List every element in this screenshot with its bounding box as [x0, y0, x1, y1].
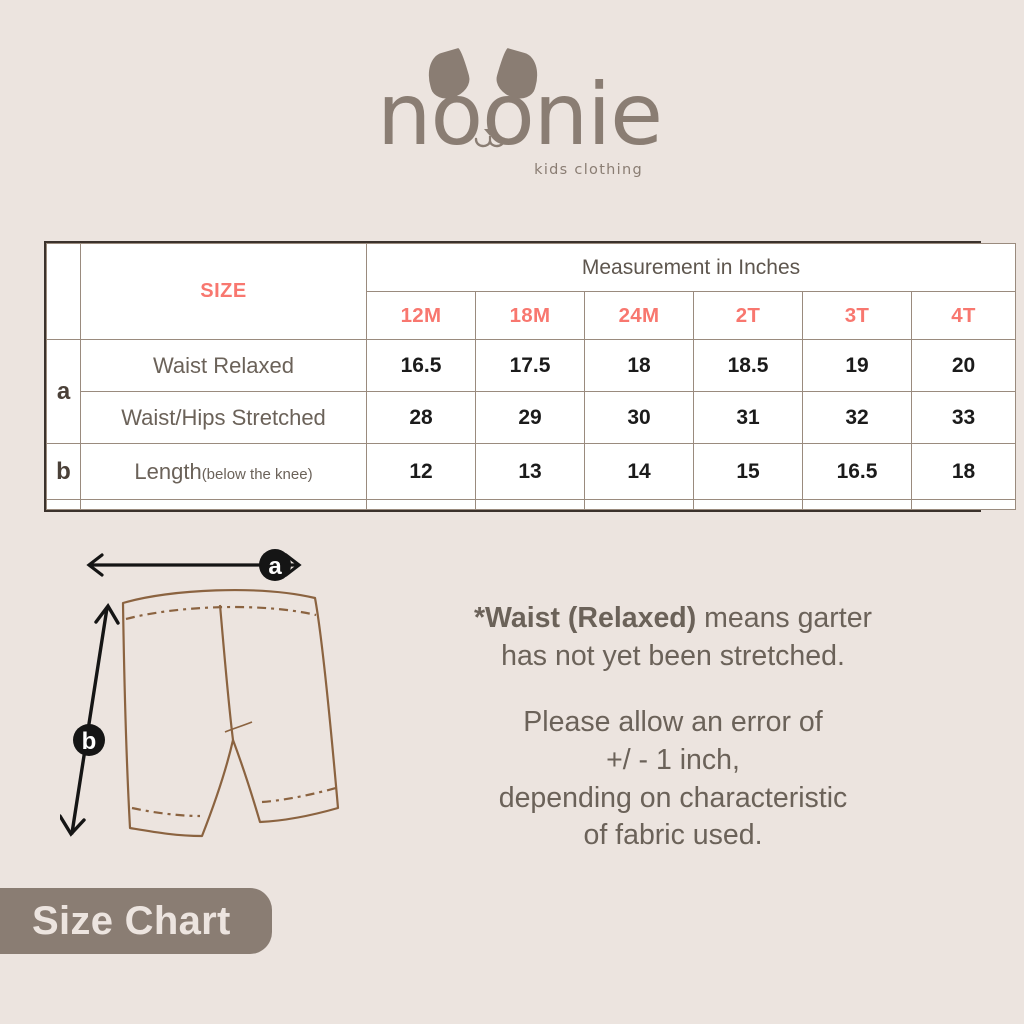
header-col-3t: 3T: [803, 292, 912, 340]
cell-value: 14: [585, 444, 694, 500]
table-row: Waist/Hips Stretched 28 29 30 31 32 33: [47, 392, 1016, 444]
group-letter-a: a: [47, 340, 81, 444]
cell-value: 31: [694, 392, 803, 444]
panda-face-icon: [470, 126, 510, 152]
header-col-12m: 12M: [367, 292, 476, 340]
cell-value: 16.5: [367, 340, 476, 392]
table-bottom-strip: [47, 500, 1016, 510]
cell-value: 32: [803, 392, 912, 444]
cell-value: 19: [803, 340, 912, 392]
cell-value: 12: [367, 444, 476, 500]
note-line-1-rest: means garter: [696, 602, 872, 634]
size-chart-banner-label: Size Chart: [0, 899, 231, 944]
row-label-length: Length(below the knee): [81, 444, 367, 500]
note-spacer: [408, 676, 938, 704]
header-size-label: SIZE: [81, 244, 367, 340]
cell-value: 18.5: [694, 340, 803, 392]
cell-value: 18: [912, 444, 1016, 500]
header-col-4t: 4T: [912, 292, 1016, 340]
shorts-outline: [123, 590, 338, 836]
row-label-length-main: Length: [134, 459, 201, 484]
table-header-row-measurement: SIZE Measurement in Inches: [47, 244, 1016, 292]
cell-value: 18: [585, 340, 694, 392]
header-col-2t: 2T: [694, 292, 803, 340]
note-line-5: depending on characteristic: [408, 780, 938, 818]
cell-value: 15: [694, 444, 803, 500]
note-line-1: *Waist (Relaxed) means garter: [408, 600, 938, 638]
brand-tagline: kids clothing: [377, 162, 647, 178]
size-chart-table: SIZE Measurement in Inches 12M 18M 24M 2…: [44, 241, 981, 512]
row-label-length-sub: (below the knee): [202, 466, 313, 483]
brand-wordmark: noonie: [377, 72, 647, 158]
note-line-3: Please allow an error of: [408, 704, 938, 742]
row-label-waist-relaxed: Waist Relaxed: [81, 340, 367, 392]
table-row: b Length(below the knee) 12 13 14 15 16.…: [47, 444, 1016, 500]
group-letter-b: b: [47, 444, 81, 500]
header-col-18m: 18M: [476, 292, 585, 340]
note-line-1-bold: *Waist (Relaxed): [474, 602, 696, 634]
shorts-illustration: a b: [60, 540, 410, 880]
header-col-24m: 24M: [585, 292, 694, 340]
cell-value: 20: [912, 340, 1016, 392]
note-line-4: +/ - 1 inch,: [408, 742, 938, 780]
cell-value: 33: [912, 392, 1016, 444]
cell-value: 28: [367, 392, 476, 444]
note-line-6: of fabric used.: [408, 817, 938, 855]
cell-value: 30: [585, 392, 694, 444]
measurement-badge-a-label: a: [268, 553, 282, 580]
cell-value: 29: [476, 392, 585, 444]
cell-value: 17.5: [476, 340, 585, 392]
table-row: a Waist Relaxed 16.5 17.5 18 18.5 19 20: [47, 340, 1016, 392]
row-label-waist-hips-stretched: Waist/Hips Stretched: [81, 392, 367, 444]
note-line-2: has not yet been stretched.: [408, 638, 938, 676]
size-chart-banner: Size Chart: [0, 888, 272, 954]
measurement-arrow-b: [60, 606, 118, 834]
measurement-badge-b-label: b: [82, 728, 97, 755]
cell-value: 16.5: [803, 444, 912, 500]
cell-value: 13: [476, 444, 585, 500]
brand-logo: noonie kids clothing: [0, 50, 1024, 195]
header-measurement-in-inches: Measurement in Inches: [367, 244, 1016, 292]
notes-block: *Waist (Relaxed) means garter has not ye…: [408, 600, 938, 855]
